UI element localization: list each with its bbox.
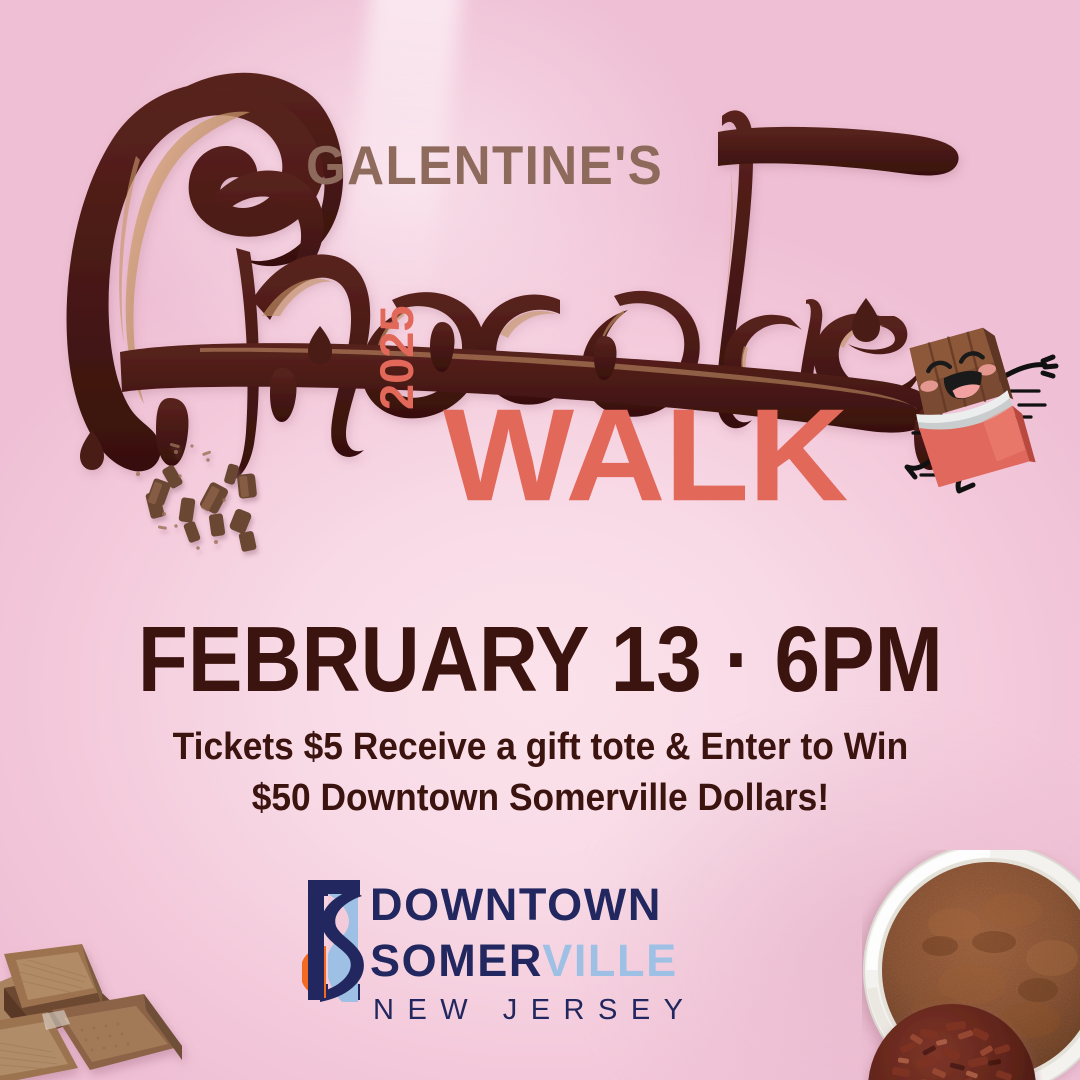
year-2025: 2025: [369, 305, 424, 410]
logo-line-somerville: SOMERVILLE: [370, 927, 792, 983]
event-details-line-2: $50 Downtown Somerville Dollars!: [251, 773, 828, 824]
logo-wordmark: DOWNTOWN SOMERVILLE NEW JERSEY: [370, 876, 792, 1025]
headline-block: GALENTINE'S 2025 WALK: [0, 0, 1080, 530]
event-details: Tickets $5 Receive a gift tote & Enter t…: [0, 722, 1080, 825]
downtown-somerville-logo[interactable]: DOWNTOWN SOMERVILLE NEW JERSEY: [302, 876, 792, 1008]
logo-line-downtown: DOWNTOWN: [370, 876, 792, 927]
s-monogram-icon: [302, 876, 368, 1004]
event-date-time: FEBRUARY 13 · 6PM: [0, 606, 1080, 713]
logo-somer-text: SOMER: [370, 935, 542, 986]
headline-walk: WALK: [443, 390, 847, 521]
logo-line-new-jersey: NEW JERSEY: [370, 983, 792, 1025]
event-details-line-1: Tickets $5 Receive a gift tote & Enter t…: [172, 722, 907, 773]
logo-ville-text: VILLE: [542, 935, 678, 986]
poster-canvas: GALENTINE'S 2025 WALK FEBRUARY 13 · 6PM …: [0, 0, 1080, 1080]
kicker-galentines: GALENTINE'S: [306, 133, 663, 197]
event-date-time-text: FEBRUARY 13 · 6PM: [138, 606, 943, 713]
